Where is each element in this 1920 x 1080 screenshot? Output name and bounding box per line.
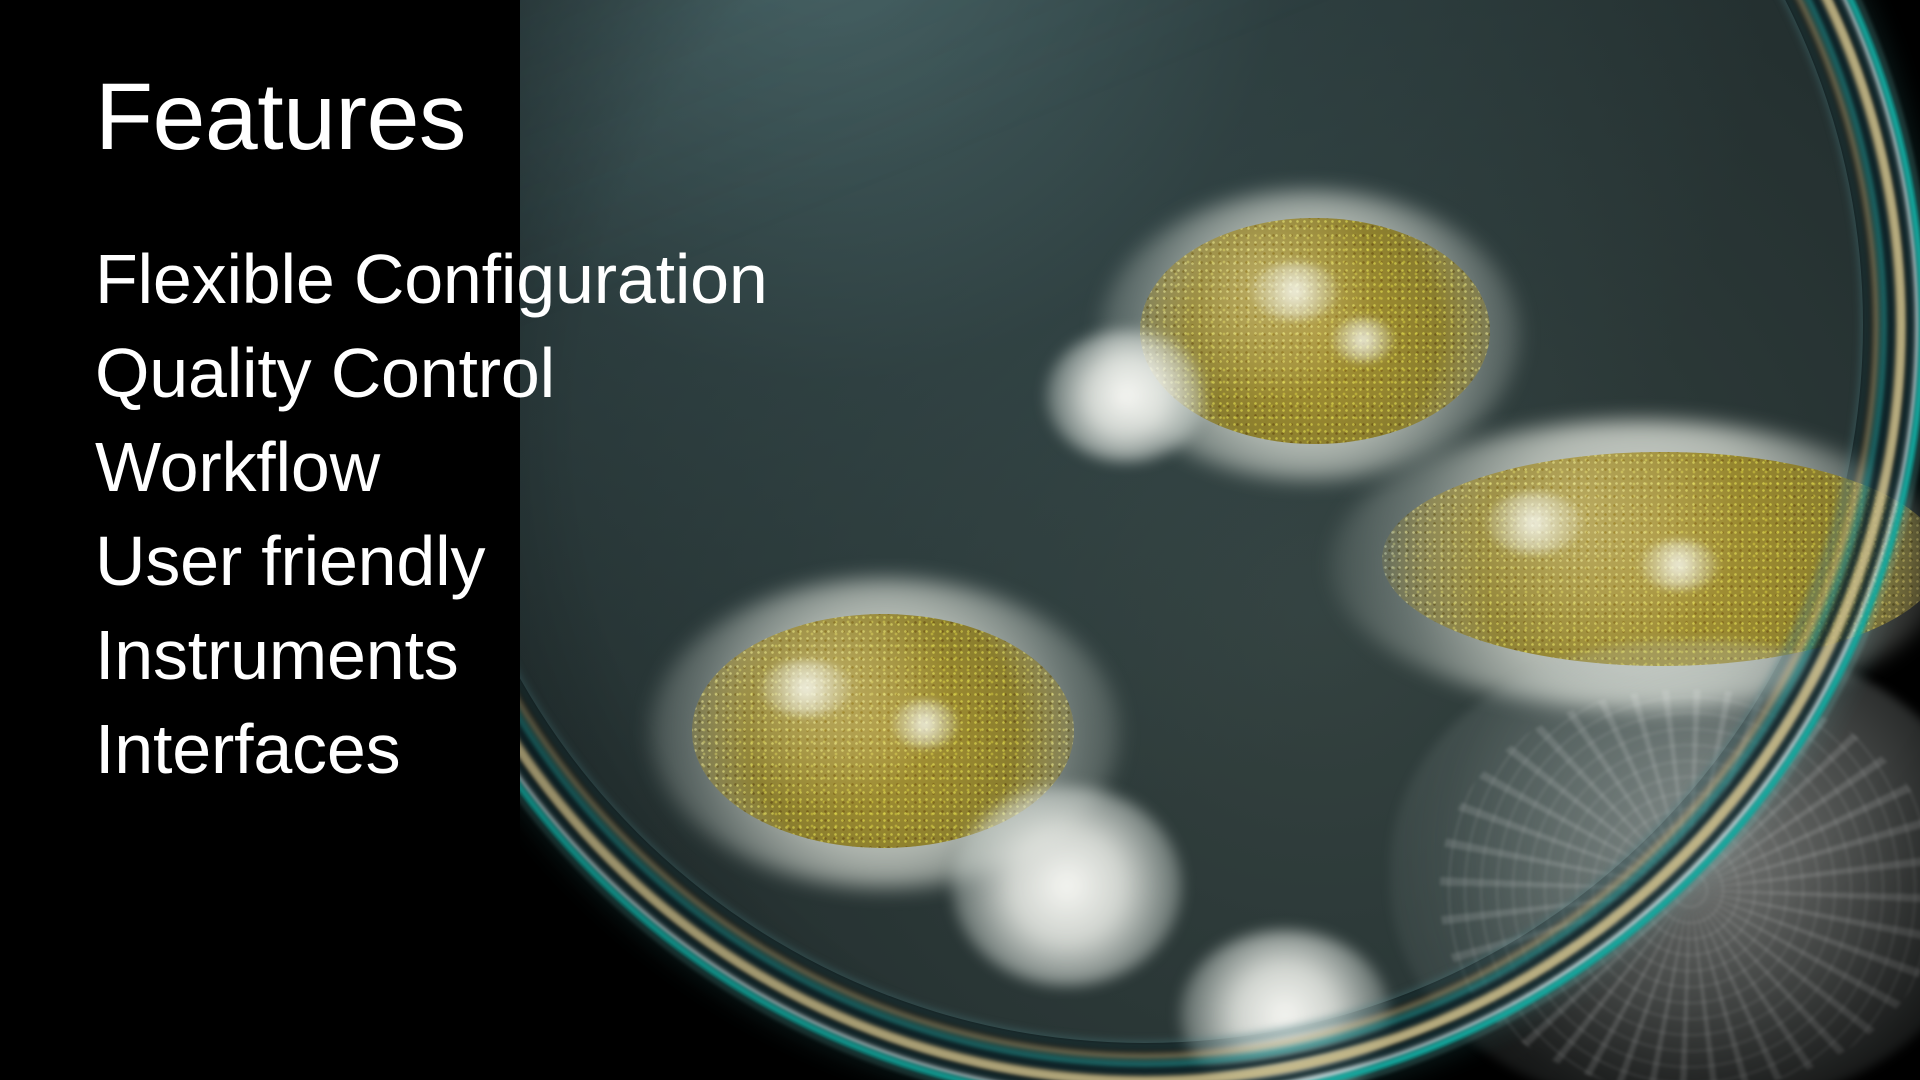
slide-root: Features Flexible Configuration Quality … [0,0,1920,1080]
text-layer: Features Flexible Configuration Quality … [0,0,1920,1080]
list-item: Flexible Configuration [95,232,768,326]
feature-list: Flexible Configuration Quality Control W… [95,232,768,796]
page-title: Features [95,68,466,168]
list-item: User friendly [95,514,768,608]
list-item: Workflow [95,420,768,514]
list-item: Interfaces [95,702,768,796]
list-item: Quality Control [95,326,768,420]
list-item: Instruments [95,608,768,702]
